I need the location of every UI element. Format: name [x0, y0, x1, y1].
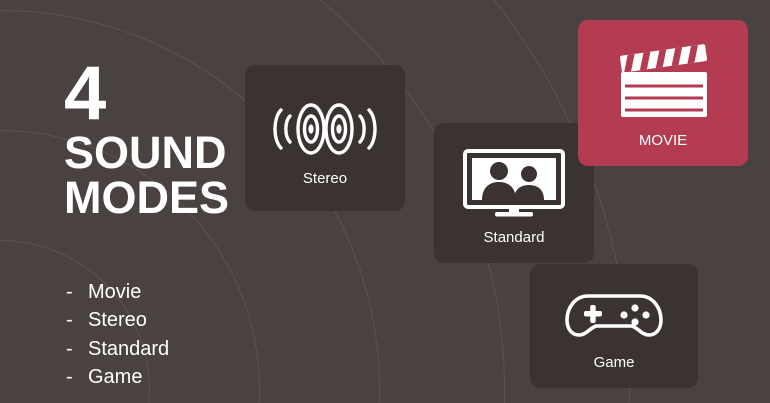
- mode-card-label: Game: [594, 354, 635, 371]
- gamepad-icon: [562, 284, 666, 346]
- mode-count: 4: [64, 62, 229, 126]
- list-item-label: Movie: [88, 281, 141, 303]
- headline-line-2: MODES: [64, 175, 229, 220]
- mode-card-standard[interactable]: Standard: [434, 123, 594, 263]
- list-bullet: -: [66, 278, 88, 306]
- mode-card-stereo[interactable]: Stereo: [245, 65, 405, 211]
- list-bullet: -: [66, 306, 88, 334]
- mode-card-movie[interactable]: MOVIE: [578, 20, 748, 166]
- sound-modes-banner: 4 SOUND MODES -Movie -Stereo -Standard -…: [0, 0, 770, 403]
- headline-block: 4 SOUND MODES: [64, 62, 229, 220]
- list-item-label: Standard: [88, 338, 169, 360]
- list-item: -Game: [66, 363, 169, 391]
- list-item-label: Stereo: [88, 309, 147, 331]
- mode-card-label: Stereo: [303, 170, 347, 187]
- mode-card-game[interactable]: Game: [530, 264, 698, 388]
- list-item-label: Game: [88, 366, 142, 388]
- stereo-speakers-icon: [269, 98, 381, 160]
- headline-line-1: SOUND: [64, 130, 229, 175]
- list-bullet: -: [66, 335, 88, 363]
- mode-list: -Movie -Stereo -Standard -Game: [66, 278, 169, 392]
- list-bullet: -: [66, 363, 88, 391]
- mode-card-label: MOVIE: [639, 132, 687, 149]
- mode-card-label: Standard: [484, 229, 545, 246]
- list-item: -Movie: [66, 278, 169, 306]
- tv-people-icon: [459, 147, 569, 219]
- clapperboard-icon: [611, 44, 715, 122]
- list-item: -Standard: [66, 335, 169, 363]
- list-item: -Stereo: [66, 306, 169, 334]
